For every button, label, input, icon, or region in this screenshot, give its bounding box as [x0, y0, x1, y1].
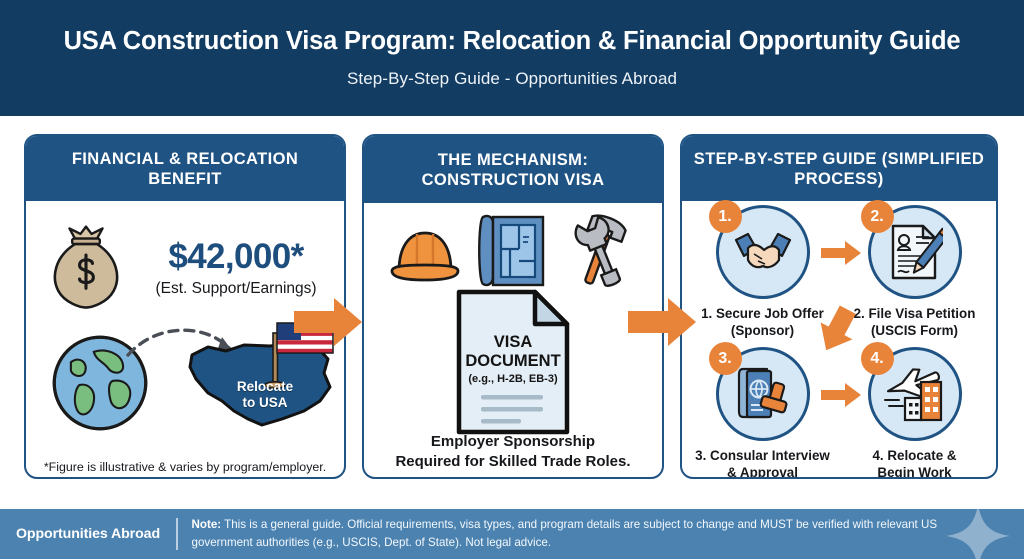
- visa-doc-line1: VISA: [494, 333, 533, 351]
- relocate-to-usa-label: Relocate to USA: [222, 379, 308, 411]
- footer-disclaimer: Note: This is a general guide. Official …: [192, 516, 992, 552]
- footer-inner: Opportunities Abroad Note: This is a gen…: [0, 509, 1024, 559]
- step1-badge: 1.: [709, 200, 742, 233]
- step3-circle: 3.: [716, 347, 810, 441]
- step3-label-line2: & Approval: [727, 465, 798, 479]
- visa-doc-line2: DOCUMENT: [465, 352, 560, 370]
- page-footer: Opportunities Abroad Note: This is a gen…: [0, 509, 1024, 559]
- footer-divider: [176, 518, 178, 550]
- step4-circle: 4.: [868, 347, 962, 441]
- footer-note-label: Note:: [192, 518, 222, 531]
- step2-circle: 2.: [868, 205, 962, 299]
- money-text-block: $42,000* (Est. Support/Earnings): [128, 239, 344, 298]
- page-header: USA Construction Visa Program: Relocatio…: [0, 0, 1024, 116]
- relocate-line1: Relocate: [237, 379, 293, 394]
- step4-label-line2: Begin Work: [877, 465, 951, 479]
- page-subtitle: Step-By-Step Guide - Opportunities Abroa…: [347, 69, 677, 89]
- step1-label-line1: 1. Secure Job Offer: [701, 306, 824, 321]
- panel-the-mechanism: THE MECHANISM: CONSTRUCTION VISA: [362, 134, 664, 479]
- infographic-board: FINANCIAL & RELOCATION BENEFIT $42,000* …: [0, 116, 1024, 497]
- panel-step-by-step-guide: STEP-BY-STEP GUIDE (SIMPLIFIED PROCESS) …: [680, 134, 998, 479]
- arrow-panel1-to-panel2-icon: [292, 296, 364, 348]
- relocate-line2: to USA: [243, 395, 288, 410]
- construction-icons-row: [364, 209, 662, 291]
- panel3-heading: STEP-BY-STEP GUIDE (SIMPLIFIED PROCESS): [682, 136, 996, 201]
- hard-hat-icon: [387, 221, 463, 291]
- visa-document-wrap: VISA DOCUMENT (e.g., H-2B, EB-3): [364, 287, 662, 437]
- panel2-note-line2: Required for Skilled Trade Roles.: [395, 453, 630, 470]
- visa-document-icon: VISA DOCUMENT (e.g., H-2B, EB-3): [453, 287, 573, 437]
- blueprint-icon: [477, 209, 547, 291]
- step2-label-line1: 2. File Visa Petition: [854, 306, 976, 321]
- step-item-3: 3. 3. Consular Interview: [690, 347, 835, 479]
- step3-badge: 3.: [709, 342, 742, 375]
- panel2-heading: THE MECHANISM: CONSTRUCTION VISA: [364, 136, 662, 203]
- footer-note-text: This is a general guide. Official requir…: [192, 518, 938, 549]
- step1-circle: 1.: [716, 205, 810, 299]
- footer-brand: Opportunities Abroad: [0, 526, 176, 542]
- step4-badge: 4.: [861, 342, 894, 375]
- step2-badge: 2.: [861, 200, 894, 233]
- step4-label: 4. Relocate & Begin Work: [842, 448, 987, 479]
- step4-label-line1: 4. Relocate &: [872, 448, 956, 463]
- step3-label: 3. Consular Interview & Approval: [690, 448, 835, 479]
- visa-doc-line3: (e.g., H-2B, EB-3): [468, 373, 558, 385]
- handshake-icon: [732, 226, 794, 278]
- hammer-wrench-icon: [561, 211, 639, 291]
- benefit-amount: $42,000*: [128, 239, 344, 274]
- step1-label-line2: (Sponsor): [731, 323, 794, 338]
- money-bag-icon: [38, 222, 134, 314]
- airplane-building-icon: [883, 366, 947, 422]
- panel2-note: Employer Sponsorship Required for Skille…: [364, 432, 662, 473]
- step2-label-line2: (USCIS Form): [871, 323, 958, 338]
- arrow-panel2-to-panel3-icon: [626, 296, 698, 348]
- panel2-body: VISA DOCUMENT (e.g., H-2B, EB-3) Employe…: [364, 203, 662, 479]
- page-title: USA Construction Visa Program: Relocatio…: [64, 27, 961, 55]
- panel1-heading: FINANCIAL & RELOCATION BENEFIT: [26, 136, 344, 201]
- step-item-4: 4.: [842, 347, 987, 479]
- panel1-footnote: *Figure is illustrative & varies by prog…: [26, 460, 344, 474]
- passport-stamp-icon: [733, 365, 793, 423]
- panel2-note-line1: Employer Sponsorship: [431, 433, 595, 450]
- step3-label-line1: 3. Consular Interview: [695, 448, 830, 463]
- document-pen-icon: [887, 223, 943, 281]
- panel3-body: 1. 1. Secure Job Offer (Sponsor): [682, 201, 996, 479]
